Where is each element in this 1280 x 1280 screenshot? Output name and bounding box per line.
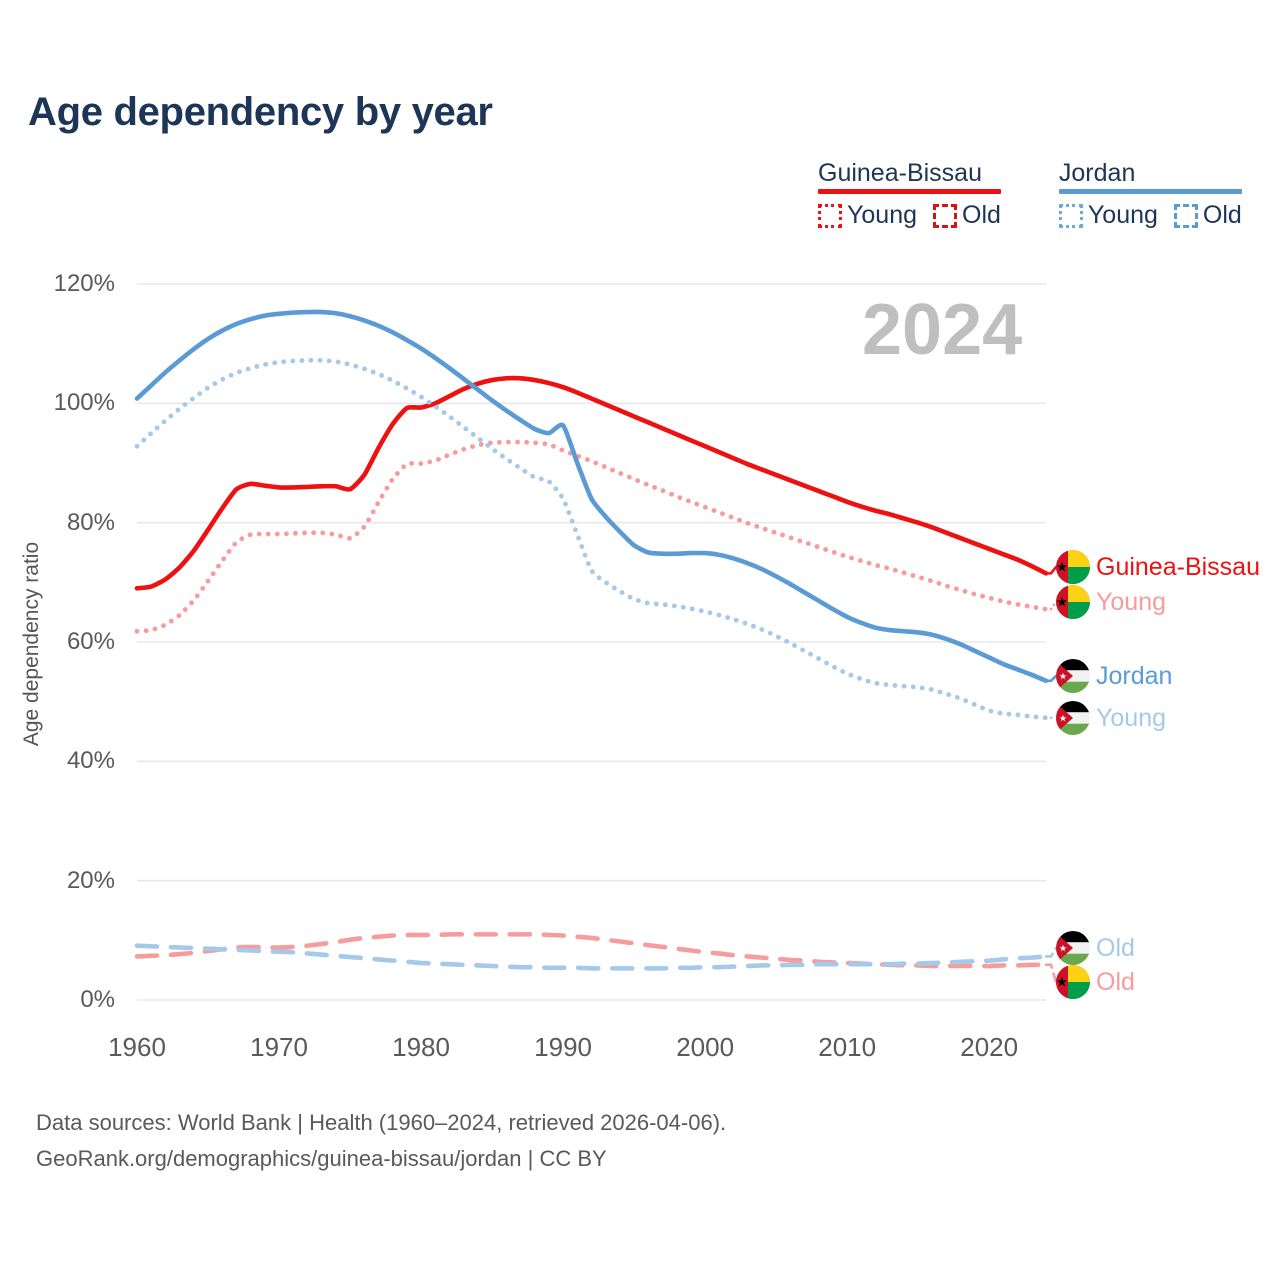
x-axis-tick-label: 1960 — [108, 1032, 166, 1063]
end-label-text: Young — [1096, 704, 1166, 733]
x-axis-tick-label: 1980 — [392, 1032, 450, 1063]
chart-page: Age dependency by year Guinea-BissauYoun… — [0, 0, 1280, 1280]
end-label-guinea-bissau-total[interactable]: Guinea-Bissau — [1056, 550, 1260, 584]
leader-line-jordan-old — [1046, 948, 1056, 956]
guinea-bissau-flag-icon — [1056, 585, 1090, 619]
end-label-jordan-young[interactable]: Young — [1056, 701, 1166, 735]
leader-line-guinea-bissau-total — [1046, 567, 1056, 573]
jordan-flag-icon — [1056, 659, 1090, 693]
guinea-bissau-flag-icon — [1056, 965, 1090, 999]
y-axis-tick-label: 80% — [67, 509, 115, 537]
guinea-bissau-flag-icon — [1056, 550, 1090, 584]
y-axis-tick-label: 60% — [67, 628, 115, 656]
chart-plot-area — [0, 0, 1280, 1280]
footer-attribution: GeoRank.org/demographics/guinea-bissau/j… — [36, 1141, 726, 1177]
x-axis-tick-label: 2020 — [960, 1032, 1018, 1063]
y-axis-label: Age dependency ratio — [20, 444, 44, 844]
end-label-text: Old — [1096, 934, 1135, 963]
end-label-guinea-bissau-old[interactable]: Old — [1056, 965, 1135, 999]
series-line-jordan_young — [137, 360, 1046, 717]
footer: Data sources: World Bank | Health (1960–… — [36, 1105, 726, 1176]
x-axis-tick-label: 2000 — [676, 1032, 734, 1063]
end-label-jordan-total[interactable]: Jordan — [1056, 659, 1172, 693]
x-axis-tick-label: 2010 — [818, 1032, 876, 1063]
end-label-jordan-old[interactable]: Old — [1056, 931, 1135, 965]
x-axis-tick-label: 1990 — [534, 1032, 592, 1063]
end-label-text: Old — [1096, 968, 1135, 997]
y-axis-tick-label: 0% — [80, 986, 115, 1014]
x-axis-tick-label: 1970 — [250, 1032, 308, 1063]
y-axis-tick-label: 100% — [54, 389, 115, 417]
y-axis-tick-label: 40% — [67, 747, 115, 775]
leader-line-jordan-total — [1046, 676, 1056, 681]
y-axis-tick-label: 120% — [54, 270, 115, 298]
footer-data-sources: Data sources: World Bank | Health (1960–… — [36, 1105, 726, 1141]
end-label-guinea-bissau-young[interactable]: Young — [1056, 585, 1166, 619]
gridlines — [137, 284, 1046, 1000]
leader-line-guinea-bissau-old — [1046, 965, 1056, 982]
series-lines — [137, 312, 1046, 968]
end-label-text: Young — [1096, 588, 1166, 617]
end-label-text: Guinea-Bissau — [1096, 553, 1260, 582]
jordan-flag-icon — [1056, 931, 1090, 965]
series-line-guinea_bissau_young — [137, 442, 1046, 631]
series-line-guinea_bissau_total — [137, 378, 1046, 588]
series-line-jordan_total — [137, 312, 1046, 681]
label-leader-lines — [1046, 567, 1056, 982]
y-axis-tick-label: 20% — [67, 867, 115, 895]
end-label-text: Jordan — [1096, 662, 1172, 691]
jordan-flag-icon — [1056, 701, 1090, 735]
